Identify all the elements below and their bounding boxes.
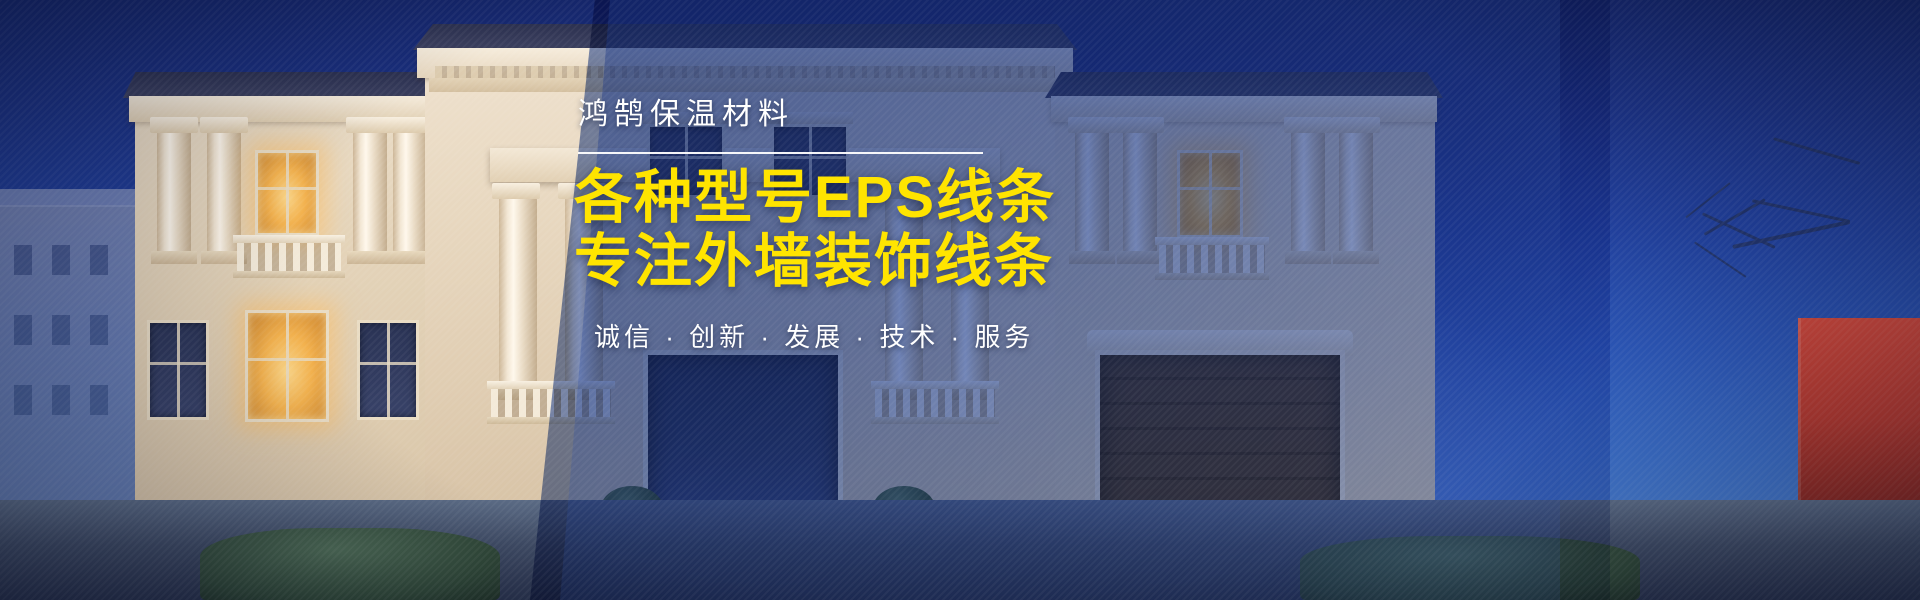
headline-line-2: 专注外墙装饰线条	[560, 230, 1120, 295]
lit-window	[255, 150, 319, 236]
column	[393, 132, 427, 252]
hero-banner: 鸿鹄保温材料 各种型号EPS线条 专注外墙装饰线条 诚信 · 创新 · 发展 ·…	[0, 0, 1920, 600]
window	[357, 320, 419, 420]
red-container	[1798, 318, 1920, 500]
column	[157, 132, 191, 252]
headline-line-1: 各种型号EPS线条	[560, 166, 1120, 231]
column	[207, 132, 241, 252]
column	[353, 132, 387, 252]
tagline: 诚信 · 创新 · 发展 · 技术 · 服务	[560, 317, 1120, 354]
lit-window	[245, 310, 329, 422]
column	[499, 198, 537, 388]
balustrade	[237, 242, 341, 272]
left-wing-roof	[123, 72, 437, 98]
foreground-hedge	[200, 528, 500, 600]
divider-rule	[578, 152, 983, 154]
brand-name: 鸿鹄保温材料	[560, 96, 1120, 134]
banner-copy: 鸿鹄保温材料 各种型号EPS线条 专注外墙装饰线条 诚信 · 创新 · 发展 ·…	[560, 96, 1120, 354]
window	[147, 320, 209, 420]
